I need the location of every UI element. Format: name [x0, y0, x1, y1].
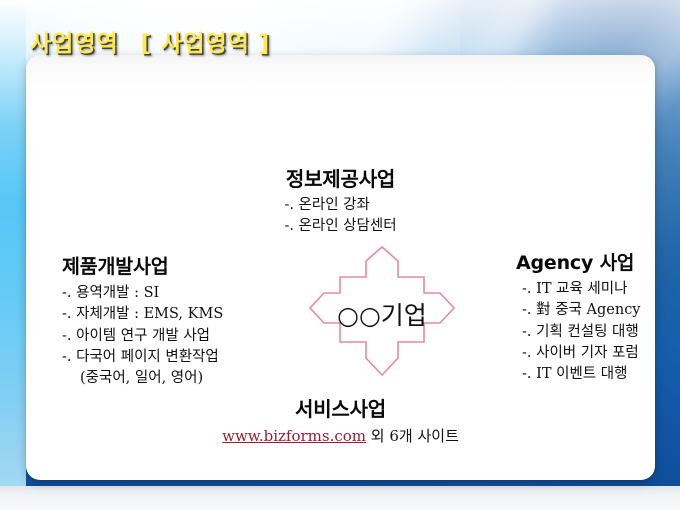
list-item: -. IT 이벤트 대행	[522, 364, 641, 385]
list-item-continuation: (중국어, 일어, 영어)	[62, 368, 223, 389]
list-item: -. 용역개발 : SI	[62, 283, 223, 304]
list-item: -. 다국어 페이지 변환작업	[62, 347, 223, 368]
block-product-development-heading: 제품개발사업	[62, 250, 223, 279]
block-agency: Agency 사업 -. IT 교육 세미나 -. 對 중국 Agency -.…	[516, 248, 641, 386]
block-service-subline: www.bizforms.com 외 6개 사이트	[26, 425, 655, 446]
list-item: -. 온라인 강좌	[284, 195, 396, 216]
list-item: -. 對 중국 Agency	[522, 300, 641, 321]
background-left-band	[0, 0, 26, 488]
block-service: 서비스사업 www.bizforms.com 외 6개 사이트	[26, 393, 655, 446]
list-item: -. IT 교육 세미나	[522, 279, 641, 300]
list-item: -. 온라인 상담센터	[284, 216, 396, 237]
content-panel: 정보제공사업 -. 온라인 강좌 -. 온라인 상담센터 제품개발사업 -. 용…	[26, 55, 655, 480]
page-title-main: 사업영역	[30, 24, 119, 58]
bizforms-website-link[interactable]: www.bizforms.com	[222, 427, 366, 445]
block-info-service: 정보제공사업 -. 온라인 강좌 -. 온라인 상담센터	[26, 163, 655, 238]
block-product-development: 제품개발사업 -. 용역개발 : SI -. 자체개발 : EMS, KMS -…	[62, 250, 223, 390]
list-item: -. 자체개발 : EMS, KMS	[62, 304, 223, 325]
footer-strip	[0, 486, 680, 510]
block-agency-heading: Agency 사업	[516, 248, 641, 275]
block-service-heading: 서비스사업	[26, 393, 655, 422]
list-item: -. 아이템 연구 개발 사업	[62, 326, 223, 347]
list-item: -. 기획 컨설팅 대행	[522, 322, 641, 343]
slide-root: 사업영역 [ 사업영역 ] 정보제공사업 -. 온라인 강좌 -. 온라인 상담…	[0, 0, 680, 510]
four-way-arrow-icon	[276, 245, 488, 383]
block-info-service-list: -. 온라인 강좌 -. 온라인 상담센터	[284, 195, 396, 238]
block-agency-list: -. IT 교육 세미나 -. 對 중국 Agency -. 기획 컨설팅 대행…	[522, 279, 641, 386]
page-title: 사업영역 [ 사업영역 ]	[30, 24, 270, 58]
block-service-suffix: 외 6개 사이트	[366, 427, 459, 445]
list-item: -. 사이버 기자 포럼	[522, 343, 641, 364]
block-info-service-heading: 정보제공사업	[26, 163, 655, 192]
block-product-development-list: -. 용역개발 : SI -. 자체개발 : EMS, KMS -. 아이템 연…	[62, 283, 223, 390]
page-title-bracket: [ 사업영역 ]	[141, 24, 271, 58]
